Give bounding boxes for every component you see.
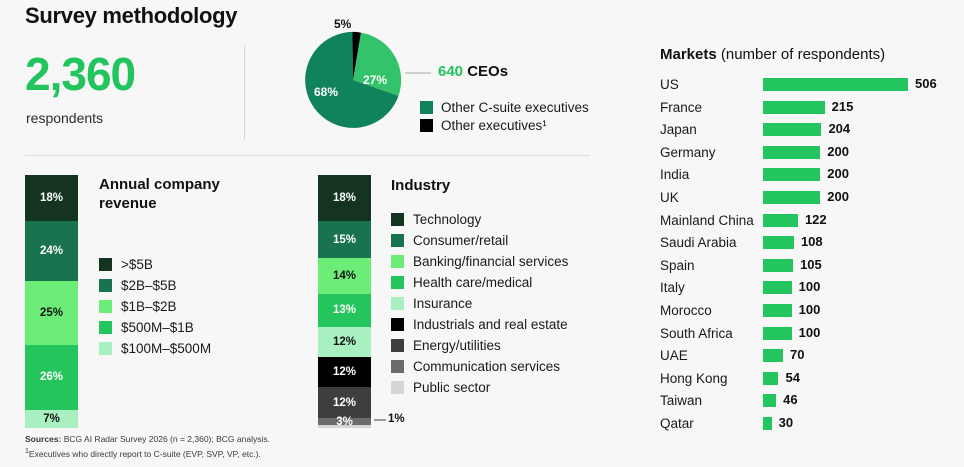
revenue-stacked-bar: 18%24%25%26%7% [25,175,78,428]
stack-segment: 26% [25,345,78,411]
note-text: Executives who directly report to C-suit… [29,448,261,458]
respondent-count-label: respondents [26,110,103,126]
role-pie-chart: 27% 68% 5% [303,30,403,130]
market-bar [763,372,778,385]
market-row: Italy100 [660,278,960,301]
market-name: India [660,167,689,182]
market-name: Morocco [660,303,712,318]
market-bar [763,146,820,159]
stack-segment-value: 24% [40,245,63,257]
legend-swatch-icon [391,381,404,394]
legend-swatch-icon [391,255,404,268]
legend-item: Public sector [391,380,568,395]
legend-item: Energy/utilities [391,338,568,353]
legend-swatch-icon [99,321,112,334]
market-bar [763,78,908,91]
market-value: 46 [783,392,797,407]
legend-label: Public sector [413,380,490,395]
legend-item: $100M–$500M [99,341,211,356]
stack-segment: 12% [318,327,371,357]
market-name: Japan [660,122,697,137]
legend-item: $500M–$1B [99,320,211,335]
legend-label: $2B–$5B [121,278,177,293]
stack-segment-value: 7% [43,413,60,425]
market-name: US [660,77,679,92]
stack-segment-value: 15% [333,234,356,246]
market-row: Taiwan46 [660,391,960,414]
source-line: Sources: BCG AI Radar Survey 2026 (n = 2… [25,434,270,446]
market-bar [763,349,783,362]
industry-legend: TechnologyConsumer/retailBanking/financi… [391,212,568,401]
source-footnote: Sources: BCG AI Radar Survey 2026 (n = 2… [25,434,270,460]
market-name: Spain [660,258,695,273]
market-value: 70 [790,347,804,362]
markets-title-rest: (number of respondents) [717,46,885,63]
legend-swatch-icon [391,360,404,373]
legend-label: Industrials and real estate [413,317,568,332]
respondent-count: 2,360 [25,48,135,100]
legend-label: Communication services [413,359,560,374]
legend-swatch-icon [99,279,112,292]
stack-segment: 24% [25,221,78,282]
legend-label: Consumer/retail [413,233,508,248]
market-bar [763,191,820,204]
stack-segment-value: 18% [333,192,356,204]
market-value: 215 [832,99,854,114]
market-row: Japan204 [660,120,960,143]
market-row: France215 [660,98,960,121]
note-line: 1Executives who directly report to C-sui… [25,446,270,460]
legend-swatch-icon [391,339,404,352]
market-row: Germany200 [660,143,960,166]
legend-item: Industrials and real estate [391,317,568,332]
pie-callout-label: CEOs [467,63,508,80]
market-row: Qatar30 [660,414,960,437]
stack-segment-value: 26% [40,371,63,383]
page-title: Survey methodology [25,3,237,29]
stack-segment [318,425,371,428]
stack-segment-value: 13% [333,304,356,316]
market-row: South Africa100 [660,324,960,347]
stack-segment: 18% [25,175,78,221]
pie-label-other-csuite: 68% [314,85,338,99]
market-row: Mainland China122 [660,211,960,234]
market-bar [763,259,793,272]
legend-label: >$5B [121,257,153,272]
revenue-legend: >$5B$2B–$5B$1B–$2B$500M–$1B$100M–$500M [99,257,211,362]
legend-item: Other executives¹ [420,118,589,133]
pie-callout-number: 640 [438,63,463,80]
industry-callout-leader-line [374,419,386,421]
stack-segment-value: 25% [40,307,63,319]
legend-swatch-icon [391,213,404,226]
legend-item: Communication services [391,359,568,374]
stack-segment-value: 18% [40,192,63,204]
market-value: 100 [799,302,821,317]
stack-segment: 7% [25,410,78,428]
infographic-page: Survey methodology 2,360 respondents 27%… [0,0,964,467]
legend-swatch-icon [391,318,404,331]
stack-segment: 12% [318,387,371,417]
legend-swatch-icon [99,342,112,355]
legend-label: Health care/medical [413,275,532,290]
legend-swatch-icon [391,276,404,289]
industry-callout-value: 1% [388,413,405,425]
legend-item: Consumer/retail [391,233,568,248]
markets-bar-chart: US506France215Japan204Germany200India200… [660,75,960,437]
market-name: Italy [660,280,685,295]
source-text: BCG AI Radar Survey 2026 (n = 2,360); BC… [61,434,270,444]
horizontal-divider [25,155,590,156]
legend-label: $1B–$2B [121,299,177,314]
market-name: UAE [660,348,688,363]
market-value: 100 [799,279,821,294]
stack-segment-value: 12% [333,336,356,348]
market-name: Hong Kong [660,371,728,386]
market-name: Taiwan [660,393,702,408]
stack-segment: 15% [318,221,371,259]
legend-label: Technology [413,212,481,227]
market-bar [763,236,794,249]
pie-legend: Other C-suite executives Other executive… [420,100,589,136]
legend-swatch-icon [420,101,433,114]
market-bar [763,123,821,136]
legend-label: Energy/utilities [413,338,501,353]
markets-title-bold: Markets [660,46,717,63]
vertical-divider [244,45,245,140]
legend-label: Other C-suite executives [441,100,589,115]
stack-segment: 3% [318,418,371,426]
market-value: 506 [915,76,937,91]
market-row: US506 [660,75,960,98]
legend-swatch-icon [99,258,112,271]
legend-label: $500M–$1B [121,320,194,335]
pie-callout-ceos: 640 CEOs [438,63,508,80]
market-row: India200 [660,165,960,188]
market-name: Germany [660,145,716,160]
market-bar [763,417,772,430]
market-value: 204 [828,121,850,136]
market-bar [763,101,825,114]
legend-item: $2B–$5B [99,278,211,293]
revenue-title: Annual companyrevenue [99,175,249,213]
market-value: 122 [805,212,827,227]
legend-item: Insurance [391,296,568,311]
stack-segment-value: 14% [333,270,356,282]
legend-label: Banking/financial services [413,254,568,269]
market-row: Morocco100 [660,301,960,324]
market-row: UAE70 [660,346,960,369]
stack-segment: 12% [318,357,371,387]
market-bar [763,327,792,340]
stack-segment: 14% [318,258,371,293]
market-row: Saudi Arabia108 [660,233,960,256]
market-bar [763,281,792,294]
market-row: Spain105 [660,256,960,279]
market-value: 200 [827,144,849,159]
legend-swatch-icon [420,119,433,132]
market-bar [763,304,792,317]
market-value: 200 [827,166,849,181]
legend-item: $1B–$2B [99,299,211,314]
legend-item: >$5B [99,257,211,272]
pie-label-other-executives: 5% [334,17,351,31]
legend-label: Other executives¹ [441,118,547,133]
legend-item: Banking/financial services [391,254,568,269]
stack-segment-value: 12% [333,366,356,378]
legend-item: Health care/medical [391,275,568,290]
pie-svg [303,30,403,130]
market-name: Saudi Arabia [660,235,737,250]
legend-label: $100M–$500M [121,341,211,356]
market-name: Qatar [660,416,694,431]
stack-segment: 18% [318,175,371,221]
pie-callout-leader-line [405,72,431,74]
legend-item: Technology [391,212,568,227]
market-row: Hong Kong54 [660,369,960,392]
market-value: 200 [827,189,849,204]
legend-item: Other C-suite executives [420,100,589,115]
source-label: Sources: [25,434,61,444]
market-value: 54 [785,370,799,385]
legend-label: Insurance [413,296,472,311]
legend-swatch-icon [391,297,404,310]
stack-segment: 13% [318,294,371,327]
industry-stacked-bar: 18%15%14%13%12%12%12%3% [318,175,371,428]
market-value: 100 [799,325,821,340]
legend-swatch-icon [99,300,112,313]
market-name: France [660,100,702,115]
market-bar [763,214,798,227]
market-name: Mainland China [660,213,754,228]
market-bar [763,168,820,181]
stack-segment: 25% [25,281,78,344]
market-value: 108 [801,234,823,249]
industry-title: Industry [391,176,450,195]
market-bar [763,394,776,407]
legend-swatch-icon [391,234,404,247]
market-value: 105 [800,257,822,272]
market-name: South Africa [660,326,733,341]
market-row: UK200 [660,188,960,211]
stack-segment-value: 12% [333,397,356,409]
pie-label-ceos: 27% [363,73,387,87]
markets-title: Markets (number of respondents) [660,46,885,63]
market-name: UK [660,190,679,205]
market-value: 30 [779,415,793,430]
